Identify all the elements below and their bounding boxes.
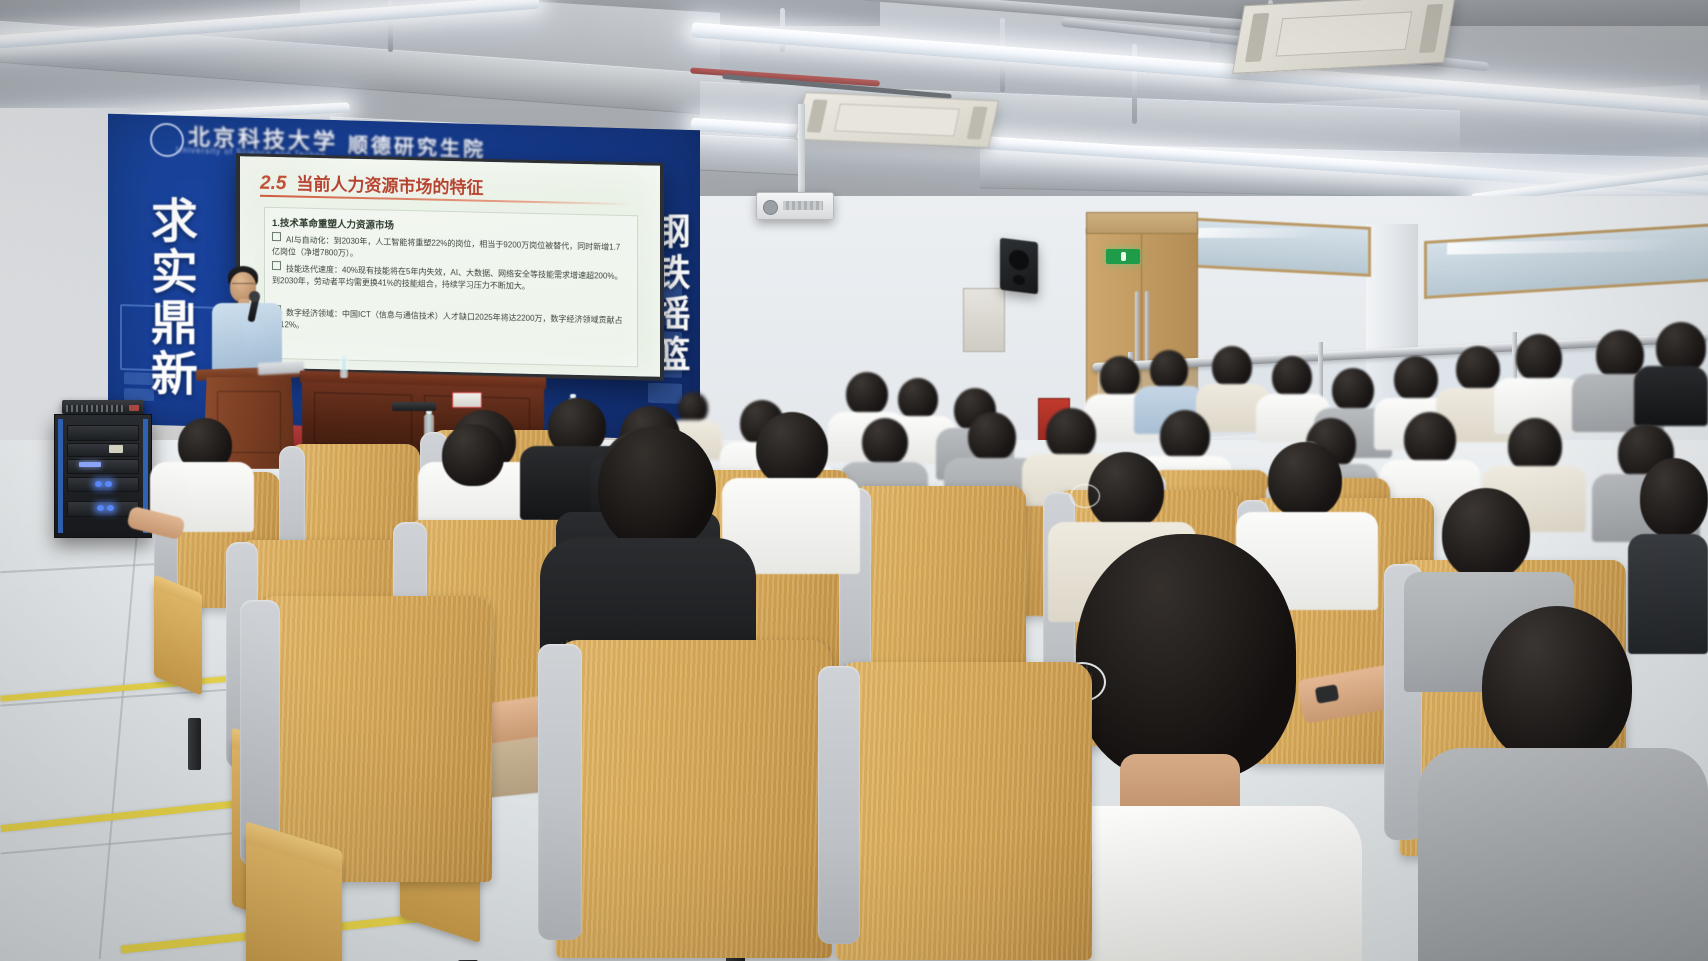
door-handle [1145, 291, 1149, 365]
audience-head [1332, 368, 1374, 412]
audience-torso-foreground [1418, 748, 1708, 961]
audience-head [1268, 442, 1342, 518]
audience-head-foreground [1076, 534, 1296, 780]
banner-left-motto: 求实鼎新 [145, 196, 195, 400]
audience-head [1640, 458, 1708, 538]
rack-status-led [105, 481, 112, 487]
audience-head-foreground [598, 426, 716, 552]
projector-lens [763, 200, 778, 215]
slide-section-number: 2.5 [260, 173, 286, 196]
rack-status-led [107, 505, 114, 511]
audience-head [756, 412, 828, 486]
podium-laptop [258, 361, 304, 375]
audience-glasses [1070, 484, 1100, 508]
audience-head [968, 412, 1016, 462]
microphone-head [249, 291, 260, 302]
electrical-panel [963, 288, 1005, 352]
audience-head [1404, 412, 1456, 466]
audience-head [1516, 334, 1562, 382]
audience-head [1272, 356, 1312, 398]
audience-head [846, 372, 888, 416]
audience-head [898, 378, 938, 420]
running-man-icon [1121, 252, 1126, 261]
audio-mixing-console[interactable] [62, 400, 144, 414]
door-handle [1135, 291, 1139, 365]
audience-head [1394, 356, 1438, 402]
rack-status-led [95, 481, 102, 487]
audience-head [1212, 346, 1252, 388]
presentation-slide: 2.5 当前人力资源市场的特征 1.技术革命重塑人力资源市场 AI与自动化：到2… [240, 156, 660, 377]
presenter-glasses [232, 283, 254, 289]
audience-head [442, 424, 504, 486]
table-nameplate [452, 392, 482, 408]
audience-torso [1628, 534, 1708, 654]
bullet-square-icon [272, 232, 281, 241]
audience-head-foreground [1482, 606, 1632, 766]
auditorium-seat[interactable] [836, 662, 1096, 961]
audience-head [1160, 410, 1210, 462]
rack-status-led [97, 505, 104, 511]
emergency-exit-sign [1106, 249, 1140, 264]
water-bottle[interactable] [340, 358, 348, 378]
slide-heading: 1.技术革命重塑人力资源市场 [272, 215, 394, 232]
lecture-hall-photo: 北京科技大学 顺德研究生院 University of Science and … [0, 0, 1708, 961]
audience-head [1442, 488, 1530, 580]
transom-window [1185, 217, 1371, 277]
audience-head [862, 418, 908, 466]
auditorium-seat[interactable] [256, 596, 496, 896]
audience-head [1100, 356, 1140, 398]
seat-leg [188, 718, 201, 770]
door-transom [1086, 212, 1198, 234]
audience-torso [1634, 366, 1708, 426]
auditorium-seat[interactable] [556, 640, 836, 961]
wall-speaker [1000, 238, 1038, 295]
bullet-square-icon [272, 261, 281, 270]
air-conditioner-unit [1232, 0, 1456, 74]
air-conditioner-unit [795, 92, 999, 148]
audience-head [1150, 350, 1188, 390]
audience-head [1088, 452, 1164, 530]
audience-head [1046, 408, 1096, 460]
slide-title: 当前人力资源市场的特征 [296, 170, 483, 199]
audience-head [1456, 346, 1500, 392]
projector [756, 192, 834, 220]
projector-mount-pole [798, 104, 805, 192]
table-device [392, 402, 436, 411]
